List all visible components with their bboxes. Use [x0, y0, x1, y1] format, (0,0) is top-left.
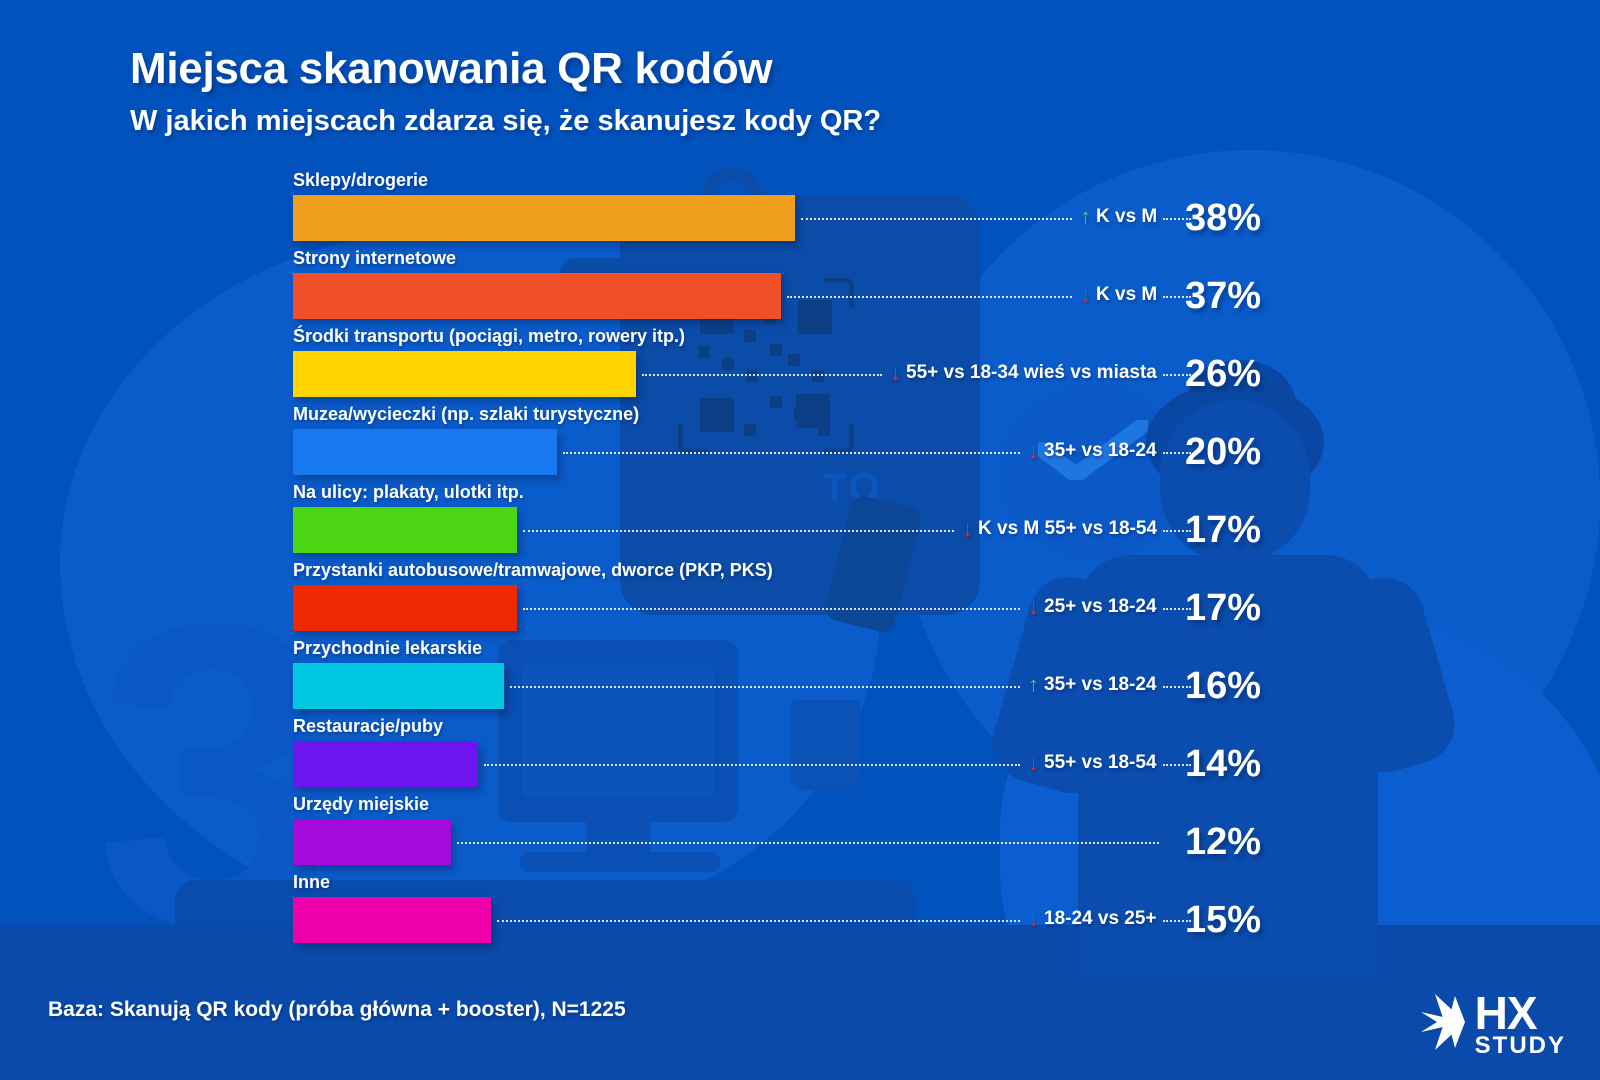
bar-value-label: 17%	[1185, 509, 1261, 552]
arrow-down-icon: ↓	[1028, 596, 1039, 618]
bar-annotation: ↓K vs M	[1080, 284, 1157, 306]
bar-value-label: 12%	[1185, 821, 1261, 864]
bar-annotation: ↓18-24 vs 25+	[1028, 908, 1157, 930]
bar-chart: Sklepy/drogerie↑K vs M38%Strony internet…	[0, 170, 1600, 950]
arrow-down-icon: ↓	[1028, 440, 1039, 462]
bar-value-label: 16%	[1185, 665, 1261, 708]
arrow-down-icon: ↓	[1028, 908, 1039, 930]
bar-row: Inne↓18-24 vs 25+15%	[0, 872, 1600, 950]
bar-value-label: 26%	[1185, 353, 1261, 396]
bar	[293, 195, 795, 241]
arrow-down-icon: ↓	[962, 518, 973, 540]
bar-annotation: ↓35+ vs 18-24	[1028, 440, 1157, 462]
annotation-text: 55+ vs 18-54	[1044, 752, 1157, 774]
annotation-text: 25+ vs 18-24	[1044, 596, 1157, 618]
bar	[293, 585, 517, 631]
leader-line	[523, 608, 1020, 610]
hx-study-logo: HX STUDY	[1415, 992, 1566, 1058]
bar-annotation: ↑K vs M	[1080, 206, 1157, 228]
leader-line	[497, 920, 1020, 922]
annotation-text: 35+ vs 18-24	[1044, 674, 1157, 696]
bar-value-label: 17%	[1185, 587, 1261, 630]
bar-row: Sklepy/drogerie↑K vs M38%	[0, 170, 1600, 248]
bar-annotation: ↓K vs M 55+ vs 18-54	[962, 518, 1157, 540]
bar-category-label: Na ulicy: plakaty, ulotki itp.	[293, 482, 524, 503]
leader-line	[787, 296, 1072, 298]
leader-line	[563, 452, 1020, 454]
annotation-text: 35+ vs 18-24	[1044, 440, 1157, 462]
bar-row: Przychodnie lekarskie↑35+ vs 18-2416%	[0, 638, 1600, 716]
bar-category-label: Inne	[293, 872, 330, 893]
bar-category-label: Muzea/wycieczki (np. szlaki turystyczne)	[293, 404, 639, 425]
bar	[293, 429, 557, 475]
bar-value-label: 20%	[1185, 431, 1261, 474]
bar-row: Środki transportu (pociągi, metro, rower…	[0, 326, 1600, 404]
bar-category-label: Restauracje/puby	[293, 716, 443, 737]
page-title: Miejsca skanowania QR kodów	[130, 44, 772, 94]
bar-row: Na ulicy: plakaty, ulotki itp.↓K vs M 55…	[0, 482, 1600, 560]
annotation-text: 18-24 vs 25+	[1044, 908, 1157, 930]
base-note: Baza: Skanują QR kody (próba główna + bo…	[48, 998, 626, 1022]
bar-value-label: 15%	[1185, 899, 1261, 942]
bar-value-label: 38%	[1185, 197, 1261, 240]
logo-primary-text: HX	[1475, 992, 1537, 1034]
arrow-down-icon: ↓	[1028, 752, 1039, 774]
bar-annotation: ↓55+ vs 18-54	[1028, 752, 1157, 774]
bar	[293, 273, 781, 319]
leader-line	[801, 218, 1072, 220]
bar-category-label: Przychodnie lekarskie	[293, 638, 482, 659]
bar	[293, 741, 478, 787]
bar	[293, 819, 451, 865]
bar	[293, 897, 491, 943]
bar-category-label: Przystanki autobusowe/tramwajowe, dworce…	[293, 560, 773, 581]
content-layer: Miejsca skanowania QR kodów W jakich mie…	[0, 0, 1600, 1080]
leader-line	[484, 764, 1020, 766]
bar	[293, 507, 517, 553]
annotation-text: K vs M 55+ vs 18-54	[978, 518, 1157, 540]
bar-row: Strony internetowe↓K vs M37%	[0, 248, 1600, 326]
leader-line	[523, 530, 954, 532]
arrow-up-icon: ↑	[1080, 206, 1091, 228]
leader-line	[457, 842, 1159, 844]
arrow-down-icon: ↓	[1080, 284, 1091, 306]
bar	[293, 663, 504, 709]
arrow-up-icon: ↑	[1028, 674, 1039, 696]
infographic-root: 3 SCAN TO	[0, 0, 1600, 1080]
bar	[293, 351, 636, 397]
bar-category-label: Środki transportu (pociągi, metro, rower…	[293, 326, 685, 347]
annotation-text: K vs M	[1096, 206, 1157, 228]
bar-annotation: ↓55+ vs 18-34 wieś vs miasta	[890, 362, 1157, 384]
bar-value-label: 14%	[1185, 743, 1261, 786]
annotation-text: K vs M	[1096, 284, 1157, 306]
bar-row: Muzea/wycieczki (np. szlaki turystyczne)…	[0, 404, 1600, 482]
logo-secondary-text: STUDY	[1475, 1034, 1566, 1058]
bar-row: Urzędy miejskie12%	[0, 794, 1600, 872]
starburst-icon	[1415, 992, 1469, 1052]
bar-category-label: Sklepy/drogerie	[293, 170, 428, 191]
bar-row: Przystanki autobusowe/tramwajowe, dworce…	[0, 560, 1600, 638]
leader-line	[510, 686, 1020, 688]
arrow-down-icon: ↓	[890, 362, 901, 384]
bar-row: Restauracje/puby↓55+ vs 18-5414%	[0, 716, 1600, 794]
bar-category-label: Urzędy miejskie	[293, 794, 429, 815]
bar-annotation: ↑35+ vs 18-24	[1028, 674, 1157, 696]
bar-category-label: Strony internetowe	[293, 248, 456, 269]
leader-line	[642, 374, 882, 376]
annotation-text: 55+ vs 18-34 wieś vs miasta	[906, 362, 1157, 384]
bar-value-label: 37%	[1185, 275, 1261, 318]
bar-annotation: ↓25+ vs 18-24	[1028, 596, 1157, 618]
page-subtitle: W jakich miejscach zdarza się, że skanuj…	[130, 105, 881, 138]
